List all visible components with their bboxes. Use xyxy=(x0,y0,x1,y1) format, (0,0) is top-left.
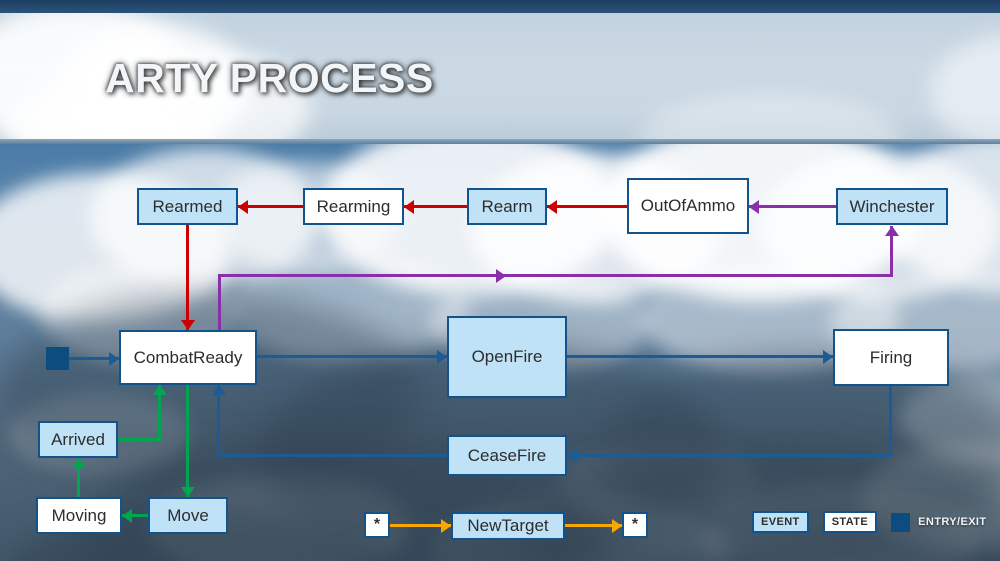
node-arrived[interactable]: Arrived xyxy=(38,421,118,458)
legend-entry-exit-swatch xyxy=(891,513,910,532)
legend-state-swatch: STATE xyxy=(823,511,877,533)
arrowhead-star-newtarget xyxy=(441,519,451,533)
node-label: Arrived xyxy=(51,430,105,450)
arrowhead-combatready-winchester xyxy=(885,226,899,236)
edge-openfire-firing xyxy=(567,355,833,358)
node-label: NewTarget xyxy=(467,516,548,536)
node-newtarget[interactable]: NewTarget xyxy=(451,512,565,540)
node-label: * xyxy=(632,516,638,534)
arrowhead-combatready-openfire xyxy=(437,350,447,364)
edge-combatready-winchester-h xyxy=(218,274,893,277)
slide-canvas: ARTY PROCESS RearmedRearmingRearmOutOfAm… xyxy=(0,0,1000,561)
edge-combatready-openfire xyxy=(257,355,447,358)
node-label: Moving xyxy=(52,506,107,526)
edge-firing-ceasefire-h xyxy=(567,454,892,457)
arrowhead-rearming-rearmed xyxy=(238,200,248,214)
node-rearmed[interactable]: Rearmed xyxy=(137,188,238,225)
node-rearm[interactable]: Rearm xyxy=(467,188,547,225)
legend: EVENT STATE ENTRY/EXIT xyxy=(752,511,987,533)
arrowhead-outofammo-rearm xyxy=(547,200,557,214)
banner-divider xyxy=(0,139,1000,144)
node-label: Rearming xyxy=(317,197,391,217)
node-label: OpenFire xyxy=(472,347,543,367)
arrowhead-ceasefire-combatready xyxy=(212,385,226,395)
edge-firing-ceasefire-v xyxy=(889,386,892,455)
node-star_right[interactable]: * xyxy=(622,512,648,538)
node-label: OutOfAmmo xyxy=(641,196,735,216)
edge-combatready-move xyxy=(186,385,189,497)
arrowhead-newtarget-star xyxy=(612,519,622,533)
node-moving[interactable]: Moving xyxy=(36,497,122,534)
node-openfire[interactable]: OpenFire xyxy=(447,316,567,398)
node-ceasefire[interactable]: CeaseFire xyxy=(447,435,567,476)
edge-ceasefire-combatready-h xyxy=(217,454,447,457)
arrowhead-combatready-winchester-mid xyxy=(496,269,506,283)
edge-arrived-combatready-h xyxy=(118,438,161,441)
arrowhead-openfire-firing xyxy=(823,350,833,364)
arrowhead-winchester-outofammo xyxy=(749,200,759,214)
node-label: Rearm xyxy=(481,197,532,217)
page-title: ARTY PROCESS xyxy=(105,55,434,102)
entry-point-marker[interactable] xyxy=(46,347,69,370)
arrowhead-rearm-rearming xyxy=(404,200,414,214)
node-label: CeaseFire xyxy=(468,446,546,466)
node-firing[interactable]: Firing xyxy=(833,329,949,386)
node-label: Rearmed xyxy=(153,197,223,217)
node-rearming[interactable]: Rearming xyxy=(303,188,404,225)
node-outofammo[interactable]: OutOfAmmo xyxy=(627,178,749,234)
node-combatready[interactable]: CombatReady xyxy=(119,330,257,385)
edge-outofammo-rearm xyxy=(547,205,627,208)
node-label: Winchester xyxy=(849,197,934,217)
legend-entry-exit-label: ENTRY/EXIT xyxy=(918,516,986,528)
edge-ceasefire-combatready-v xyxy=(217,385,220,457)
node-move[interactable]: Move xyxy=(148,497,228,534)
edge-winchester-outofammo xyxy=(749,205,836,208)
top-sky-strip xyxy=(0,0,1000,13)
edge-combatready-winchester-v1 xyxy=(218,274,221,332)
node-label: CombatReady xyxy=(134,348,243,368)
legend-event-swatch: EVENT xyxy=(752,511,809,533)
arrowhead-combatready-move xyxy=(181,487,195,497)
arrowhead-entry-combatready xyxy=(109,352,119,366)
node-star_left[interactable]: * xyxy=(364,512,390,538)
arrowhead-move-moving xyxy=(122,509,132,523)
edge-rearmed-combatready xyxy=(186,225,189,330)
arrowhead-rearmed-combatready xyxy=(181,320,195,330)
node-label: * xyxy=(374,516,380,534)
arrowhead-arrived-combatready xyxy=(153,385,167,395)
arrowhead-firing-ceasefire xyxy=(567,449,577,463)
node-label: Move xyxy=(167,506,209,526)
node-label: Firing xyxy=(870,348,913,368)
node-winchester[interactable]: Winchester xyxy=(836,188,948,225)
arrowhead-moving-arrived xyxy=(72,458,86,468)
